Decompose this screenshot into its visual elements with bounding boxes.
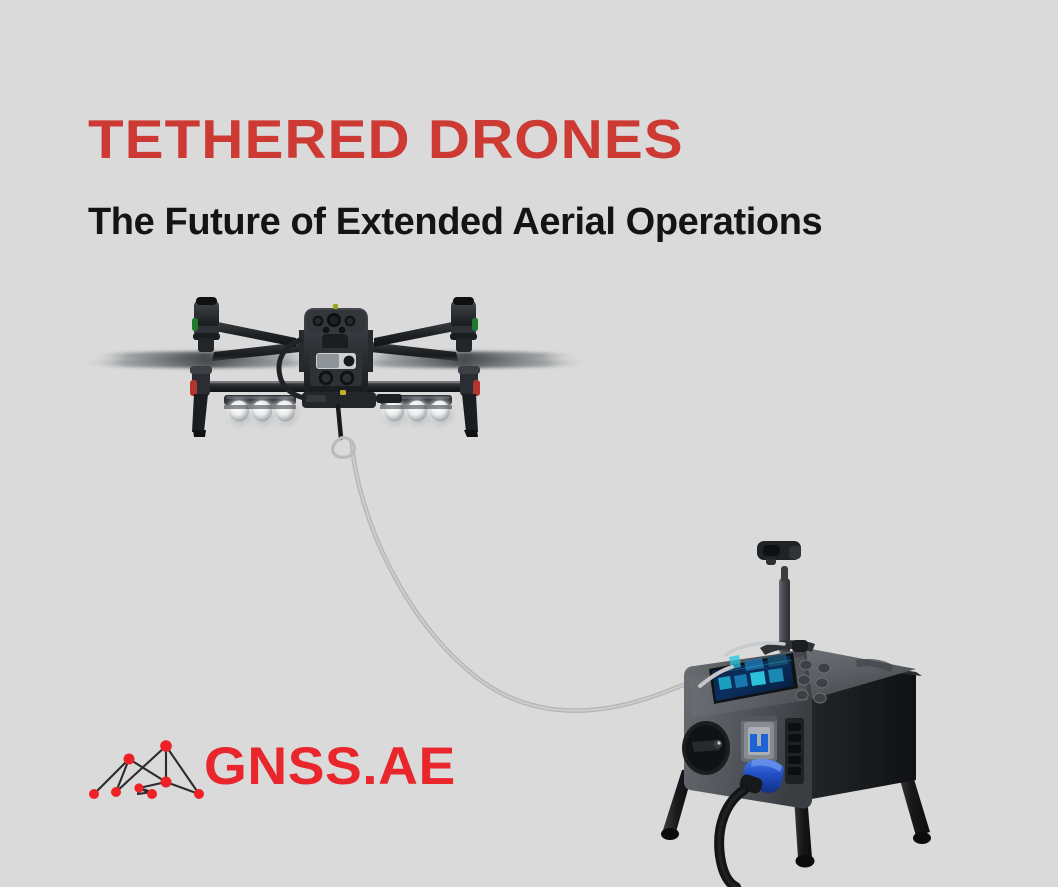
antenna-mast <box>757 541 801 654</box>
tether-ground-power-station <box>661 541 931 887</box>
vent-slots <box>785 718 804 784</box>
led-spotlight-bank-left <box>224 395 297 424</box>
motor-pod-left <box>192 297 220 352</box>
drone-lower-boom <box>198 381 472 392</box>
propeller-blur-rear-right <box>348 352 584 361</box>
station-rear-shell <box>806 657 916 800</box>
tethered-quadcopter-drone <box>78 297 592 457</box>
mast-clamp-head <box>757 541 801 565</box>
control-screen[interactable] <box>709 653 798 704</box>
landing-leg-left <box>190 366 212 437</box>
propeller-blur-front-right <box>336 358 592 368</box>
tether-status-led <box>340 390 346 395</box>
brand-logo[interactable]: GNSS.AE <box>84 730 504 810</box>
drone-cable-conduit <box>279 340 304 398</box>
drone-fuselage <box>299 308 373 402</box>
page-subtitle: The Future of Extended Aerial Operations <box>88 198 822 246</box>
tripod-leg-center <box>793 782 815 868</box>
landing-leg-right <box>458 366 480 437</box>
logo-wordmark: GNSS.AE <box>204 736 456 798</box>
leg-accent-right <box>473 380 480 396</box>
motor-indicator-left <box>192 318 198 331</box>
tether-module <box>302 390 402 408</box>
tether-anchor-loop <box>333 406 355 457</box>
tether-cable <box>352 443 720 711</box>
rotary-knob[interactable] <box>682 721 730 775</box>
motor-pod-right <box>450 297 478 352</box>
status-led-top <box>333 304 338 309</box>
tripod-leg-right <box>896 766 931 844</box>
keypad-buttons[interactable] <box>796 660 830 703</box>
propeller-blur-rear-left <box>86 352 322 361</box>
station-front-face <box>684 650 812 809</box>
power-cable <box>719 790 744 887</box>
propeller-blur-front-left <box>78 358 334 368</box>
tether-entry-guide <box>700 667 732 686</box>
blue-power-plug <box>738 759 784 795</box>
sensor-array-top <box>306 304 366 333</box>
led-spotlight-bank-right <box>380 395 452 424</box>
motor-indicator-right <box>472 318 478 331</box>
poster-canvas: TETHERED DRONES The Future of Extended A… <box>0 0 1058 887</box>
leg-accent-left <box>190 380 197 396</box>
station-top-face <box>690 648 916 699</box>
tripod-leg-left <box>661 768 694 840</box>
station-top-handle <box>726 640 815 655</box>
gimbal-camera-payload <box>310 334 362 392</box>
page-title: TETHERED DRONES <box>88 108 684 170</box>
drone-upper-arms <box>212 322 458 361</box>
socket-cover-panel[interactable] <box>741 716 777 762</box>
constellation-network-mark-icon <box>84 730 212 806</box>
